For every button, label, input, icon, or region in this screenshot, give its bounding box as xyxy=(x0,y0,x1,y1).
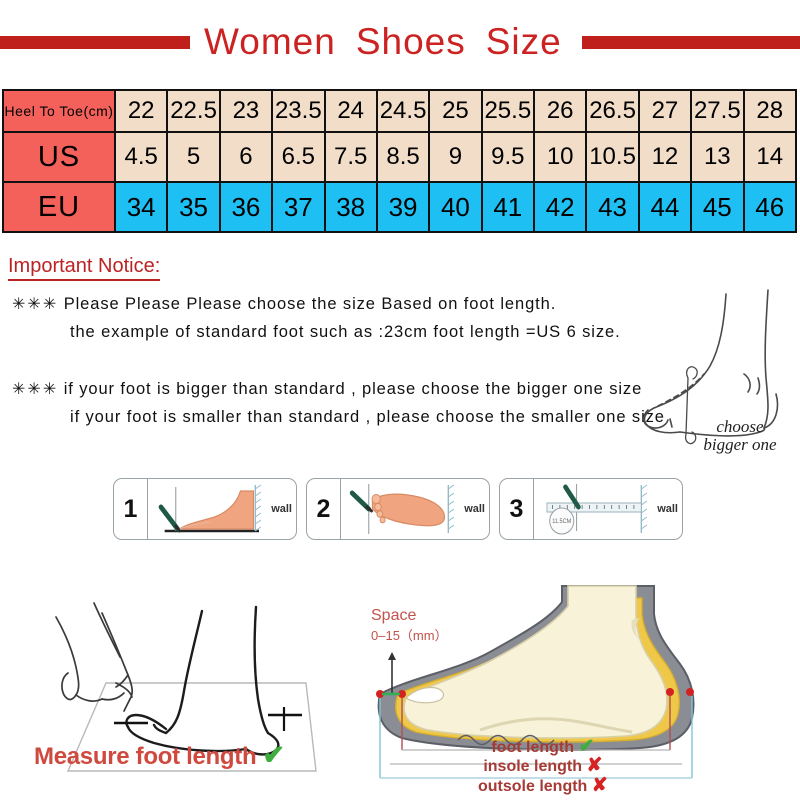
asterisk-marker: ✳✳✳ xyxy=(12,296,58,313)
cell-us: 5 xyxy=(167,132,219,182)
cell-us: 10.5 xyxy=(586,132,638,182)
page-title-bar: WomenShoesSize xyxy=(0,18,800,66)
label-outsole-length: outsole length ✘ xyxy=(478,776,608,795)
cell-eu: 35 xyxy=(167,182,219,232)
step-1-illustration: wall xyxy=(148,479,296,539)
cell-cm: 23.5 xyxy=(272,90,324,132)
cell-eu: 41 xyxy=(482,182,534,232)
cell-cm: 24 xyxy=(325,90,377,132)
asterisk-marker: ✳✳✳ xyxy=(12,381,58,398)
cell-us: 12 xyxy=(639,132,691,182)
cell-eu: 44 xyxy=(639,182,691,232)
cell-cm: 28 xyxy=(744,90,797,132)
notice-line-1-text: Please Please Please choose the size Bas… xyxy=(64,295,557,313)
notice-line-1: ✳✳✳ Please Please Please choose the size… xyxy=(12,294,672,314)
cell-us: 14 xyxy=(744,132,797,182)
size-conversion-table: Heel To Toe(cm) 22 22.5 23 23.5 24 24.5 … xyxy=(2,89,797,233)
step-number-1: 1 xyxy=(114,479,148,539)
notice-line-4-text: if your foot is smaller than standard , … xyxy=(70,408,665,426)
cell-us: 9.5 xyxy=(482,132,534,182)
cell-cm: 26.5 xyxy=(586,90,638,132)
cell-cm: 27 xyxy=(639,90,691,132)
table-row-us: US 4.5 5 6 6.5 7.5 8.5 9 9.5 10 10.5 12 … xyxy=(3,132,796,182)
cross-icon: ✘ xyxy=(592,775,608,796)
space-label-text: Space xyxy=(371,607,416,624)
title-word-women: Women xyxy=(204,21,336,62)
title-rule-left xyxy=(0,36,190,49)
step-2-illustration: wall xyxy=(341,479,489,539)
shoe-measurement-labels: foot length ✔ insole length ✘ outsole le… xyxy=(478,737,608,795)
cell-cm: 27.5 xyxy=(691,90,743,132)
cell-eu: 46 xyxy=(744,182,797,232)
cell-eu: 36 xyxy=(220,182,272,232)
table-row-eu: EU 34 35 36 37 38 39 40 41 42 43 44 45 4… xyxy=(3,182,796,232)
notice-line-3-text: if your foot is bigger than standard , p… xyxy=(64,380,642,398)
step-number-2: 2 xyxy=(307,479,341,539)
ruler-badge-text: 11.5CM xyxy=(552,519,571,525)
cell-cm: 23 xyxy=(220,90,272,132)
row-label-us: US xyxy=(3,132,115,182)
step-box-1: 1 wal xyxy=(113,478,297,540)
cell-us: 10 xyxy=(534,132,586,182)
cell-cm: 22 xyxy=(115,90,167,132)
wall-label-1: wall xyxy=(271,503,292,515)
cell-eu: 34 xyxy=(115,182,167,232)
cell-us: 9 xyxy=(429,132,481,182)
cell-eu: 40 xyxy=(429,182,481,232)
table-row-heel-to-toe: Heel To Toe(cm) 22 22.5 23 23.5 24 24.5 … xyxy=(3,90,796,132)
row-label-eu: EU xyxy=(3,182,115,232)
title-word-size: Size xyxy=(486,21,562,62)
cell-us: 7.5 xyxy=(325,132,377,182)
cell-eu: 45 xyxy=(691,182,743,232)
cell-cm: 24.5 xyxy=(377,90,429,132)
cell-eu: 39 xyxy=(377,182,429,232)
cell-eu: 43 xyxy=(586,182,638,232)
cell-eu: 38 xyxy=(325,182,377,232)
label-insole-length-text: insole length xyxy=(483,758,582,775)
cell-us: 8.5 xyxy=(377,132,429,182)
cell-cm: 26 xyxy=(534,90,586,132)
measure-foot-length-caption: Measure foot length✔ xyxy=(34,740,285,771)
cell-eu: 42 xyxy=(534,182,586,232)
space-value-text: 0–15（mm） xyxy=(371,628,448,643)
cell-eu: 37 xyxy=(272,182,324,232)
notice-line-4: if your foot is smaller than standard , … xyxy=(12,408,672,427)
label-foot-length-text: foot length xyxy=(491,739,574,756)
title-word-shoes: Shoes xyxy=(356,21,466,62)
notice-line-2: the example of standard foot such as :23… xyxy=(12,323,672,342)
title-rule-right xyxy=(582,36,800,49)
cell-cm: 25.5 xyxy=(482,90,534,132)
space-annotation: Space 0–15（mm） xyxy=(371,606,448,646)
step-box-3: 3 xyxy=(499,478,683,540)
cell-us: 4.5 xyxy=(115,132,167,182)
important-notice-heading: Important Notice: xyxy=(8,255,160,281)
wall-label-2: wall xyxy=(464,503,485,515)
label-foot-length: foot length ✔ xyxy=(478,737,608,756)
caption-line-2: bigger one xyxy=(703,435,776,454)
measurement-steps: 1 wal xyxy=(113,478,683,540)
cell-cm: 22.5 xyxy=(167,90,219,132)
page-title: WomenShoesSize xyxy=(190,21,576,63)
cell-us: 6.5 xyxy=(272,132,324,182)
wall-label-3: wall xyxy=(657,503,678,515)
step-number-3: 3 xyxy=(500,479,534,539)
check-icon: ✔ xyxy=(262,740,284,770)
cross-icon: ✘ xyxy=(586,755,602,776)
cell-cm: 25 xyxy=(429,90,481,132)
check-icon: ✔ xyxy=(578,736,594,757)
label-outsole-length-text: outsole length xyxy=(478,778,587,795)
measure-caption-text: Measure foot length xyxy=(34,743,256,770)
label-insole-length: insole length ✘ xyxy=(478,756,608,775)
row-label-heel-to-toe: Heel To Toe(cm) xyxy=(3,90,115,132)
caption-line-1: choose xyxy=(716,417,763,436)
step-box-2: 2 wall xyxy=(306,478,490,540)
notice-line-2-text: the example of standard foot such as :23… xyxy=(70,323,621,341)
step-3-illustration: 11.5CM wall xyxy=(534,479,682,539)
cell-us: 6 xyxy=(220,132,272,182)
cell-us: 13 xyxy=(691,132,743,182)
choose-bigger-one-caption: choose bigger one xyxy=(680,418,800,454)
notice-line-3: ✳✳✳ if your foot is bigger than standard… xyxy=(12,379,672,399)
